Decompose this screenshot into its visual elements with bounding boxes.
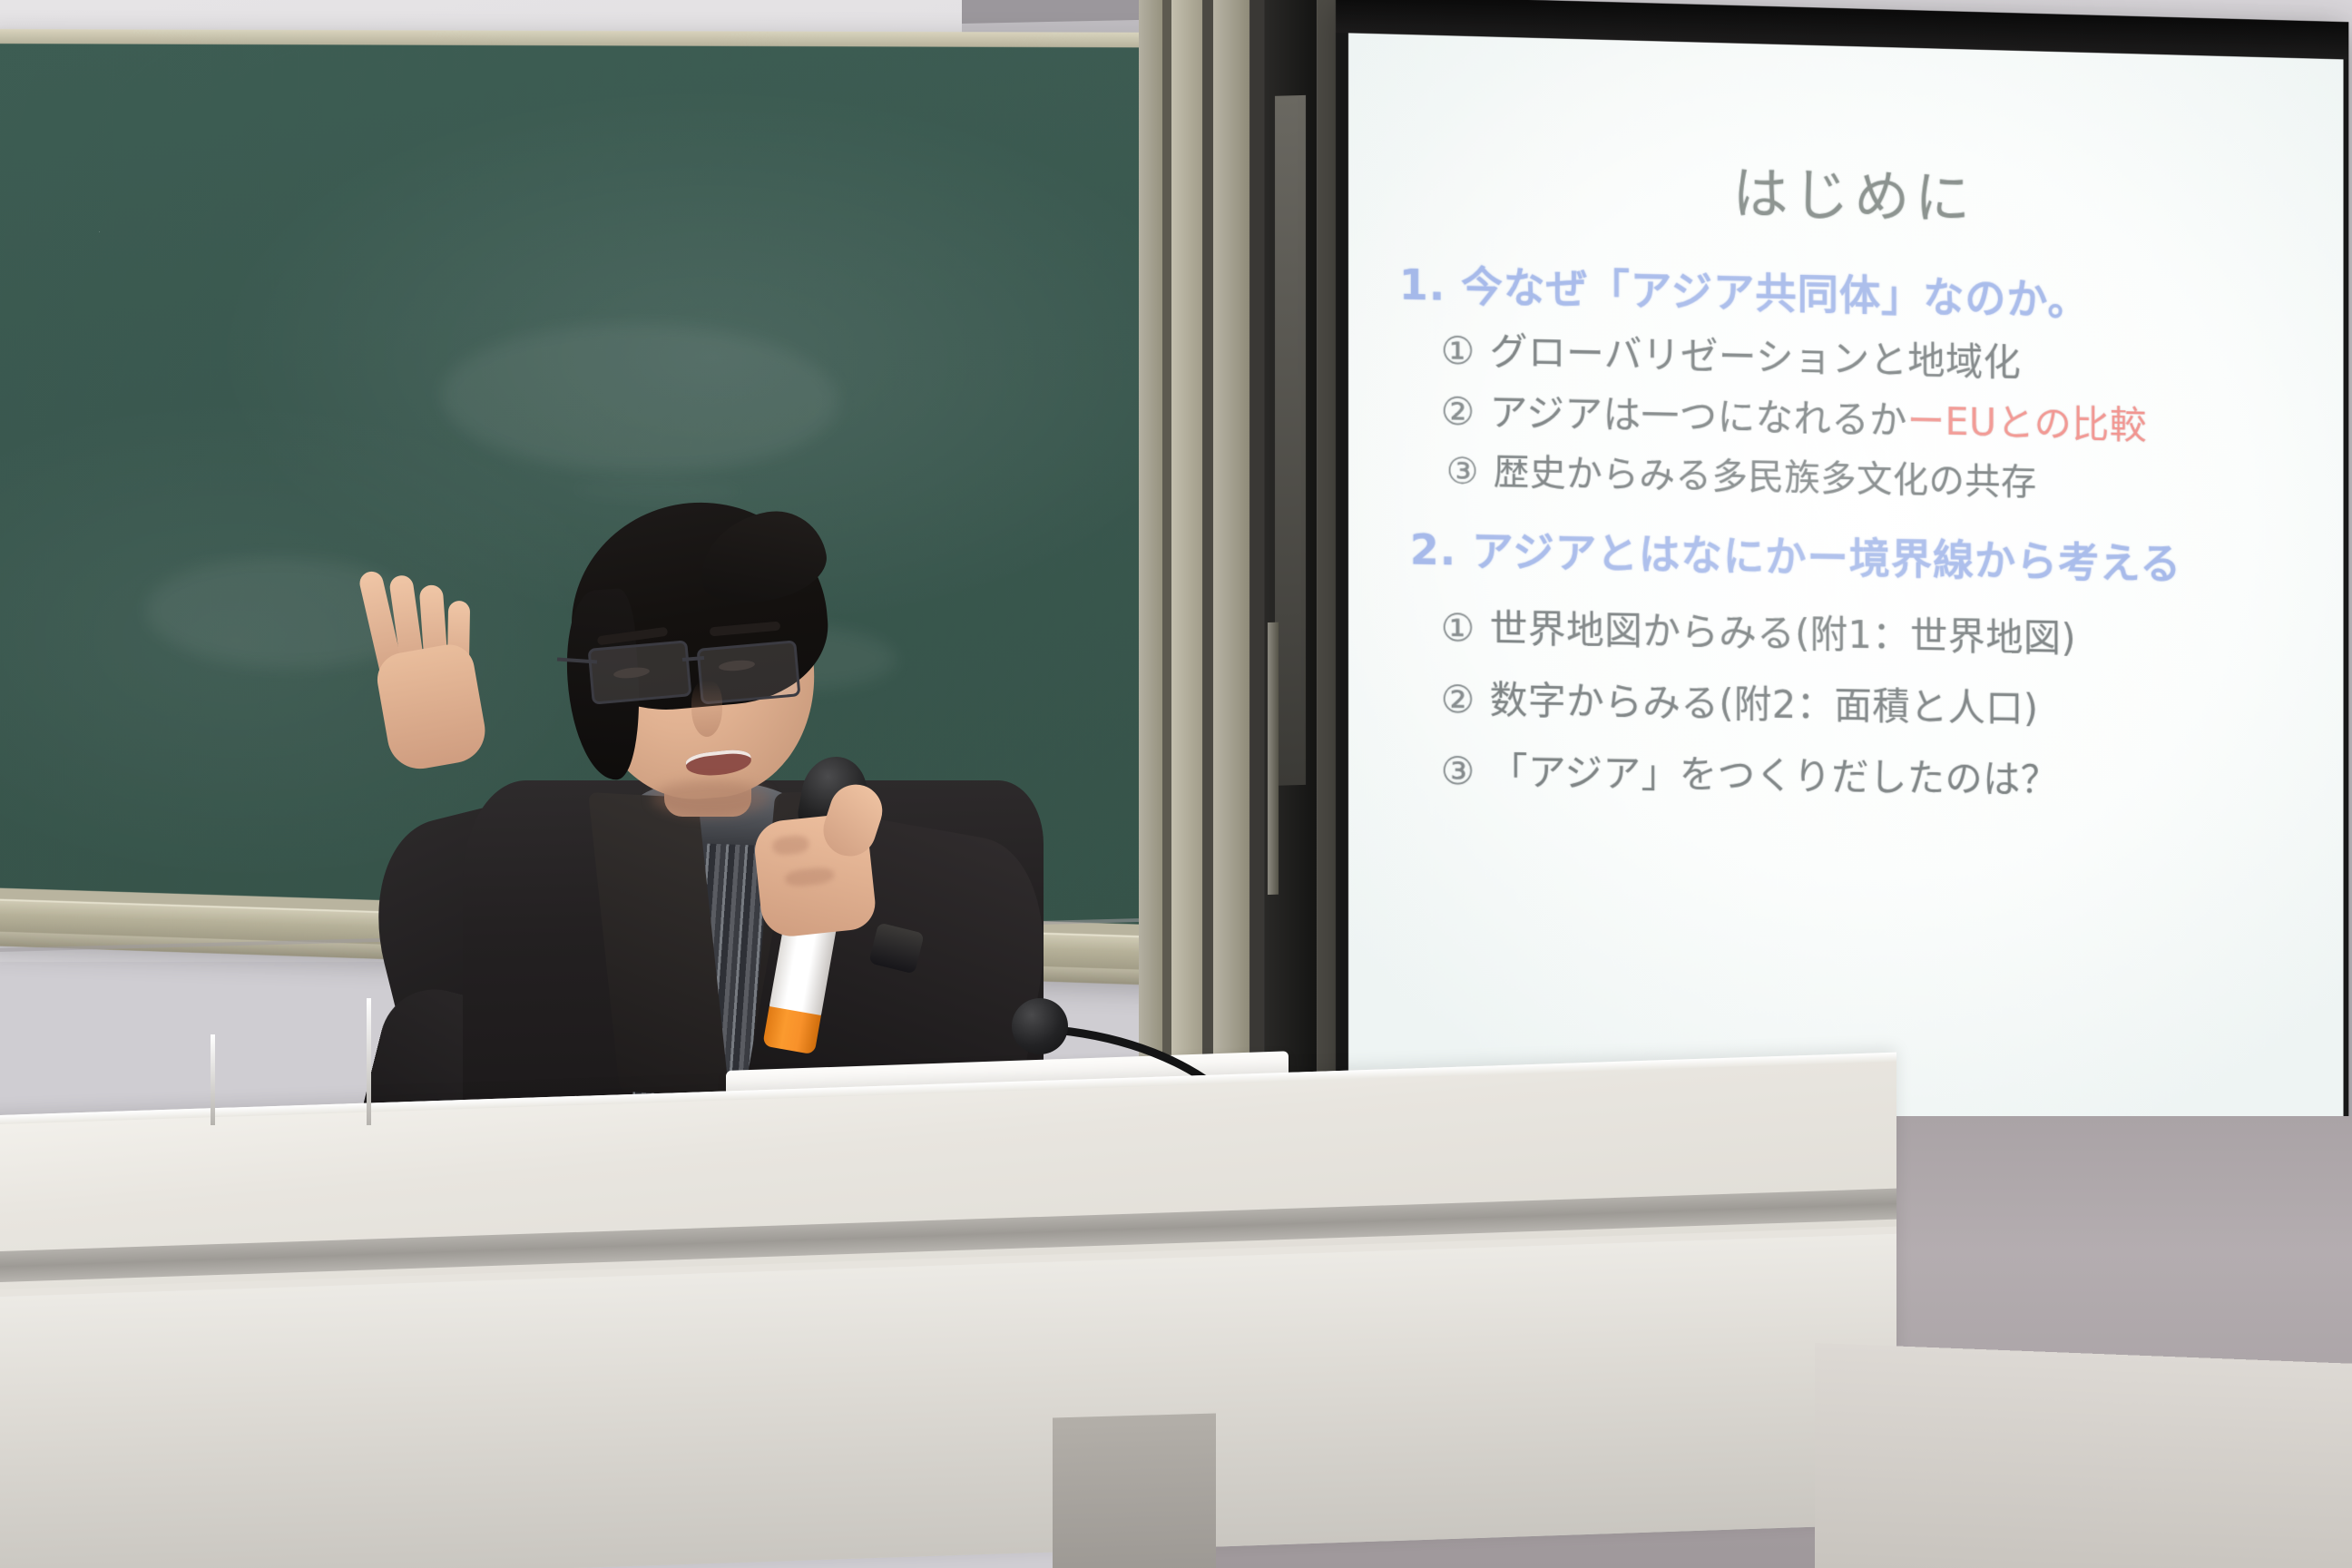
wall-pole-left <box>211 1034 215 1125</box>
front-desk <box>0 1053 1896 1568</box>
projection-screen: はじめに 1. 今なぜ「アジア共同体」なのか。 ①グローバリゼーションと地域化 … <box>1336 0 2348 1210</box>
slide-surface: はじめに 1. 今なぜ「アジア共同体」なのか。 ①グローバリゼーションと地域化 … <box>1348 33 2344 1158</box>
item-accent-text: ーEUとの比較 <box>1907 398 2147 447</box>
slide-section-1: 1. 今なぜ「アジア共同体」なのか。 <box>1399 252 2303 332</box>
door-glass <box>1275 95 1306 786</box>
item-marker: ③ <box>1441 749 1475 793</box>
item-marker: ① <box>1441 328 1475 374</box>
item-text: 歴史からみる多民族多文化の共存 <box>1494 451 2037 504</box>
item-text: 「アジア」をつくりだしたのは？ <box>1490 750 2059 802</box>
presenter-nose <box>691 681 722 737</box>
microphone-base-cap <box>762 1006 821 1054</box>
section-1-heading: 今なぜ「アジア共同体」なのか。 <box>1461 261 2089 324</box>
slide-title: はじめに <box>1399 140 2303 242</box>
slide-item-1-3: ③歴史からみる多民族多文化の共存 <box>1399 440 2303 510</box>
door-handle[interactable] <box>1268 622 1279 895</box>
item-marker: ③ <box>1446 450 1479 493</box>
item-text: グローバリゼーションと地域化 <box>1490 329 2022 385</box>
item-text: 数字からみる(附2：面積と人口) <box>1490 678 2039 731</box>
item-text: 世界地図からみる(附1：世界地図) <box>1490 606 2076 661</box>
lecture-hall-scene: はじめに 1. 今なぜ「アジア共同体」なのか。 ①グローバリゼーションと地域化 … <box>0 0 2352 1568</box>
slide-section-2: 2. アジアとはなにかー境界線から考える <box>1399 516 2303 593</box>
presenter <box>426 508 1080 1143</box>
slide-item-2-3: ③「アジア」をつくりだしたのは？ <box>1399 740 2303 808</box>
item-marker: ② <box>1441 388 1475 434</box>
desk-side-notch <box>1053 1413 1216 1568</box>
sliding-door-frame <box>1139 0 1357 1161</box>
section-2-heading: アジアとはなにかー境界線から考える <box>1472 526 2181 588</box>
slide-item-2-1: ①世界地図からみる(附1：世界地図) <box>1399 596 2303 667</box>
wall-pole-right <box>367 998 371 1125</box>
section-2-number: 2. <box>1410 525 1456 575</box>
desk-right-panel <box>1815 1343 2352 1568</box>
item-marker: ② <box>1441 677 1475 722</box>
slide-content: はじめに 1. 今なぜ「アジア共同体」なのか。 ①グローバリゼーションと地域化 … <box>1348 33 2344 1158</box>
item-text: アジアは一つになれるか <box>1490 390 1907 443</box>
gooseneck-mic-head <box>1012 998 1068 1054</box>
item-marker: ① <box>1441 605 1475 651</box>
slide-item-2-2: ②数字からみる(附2：面積と人口) <box>1399 668 2303 738</box>
section-1-number: 1. <box>1399 260 1445 310</box>
